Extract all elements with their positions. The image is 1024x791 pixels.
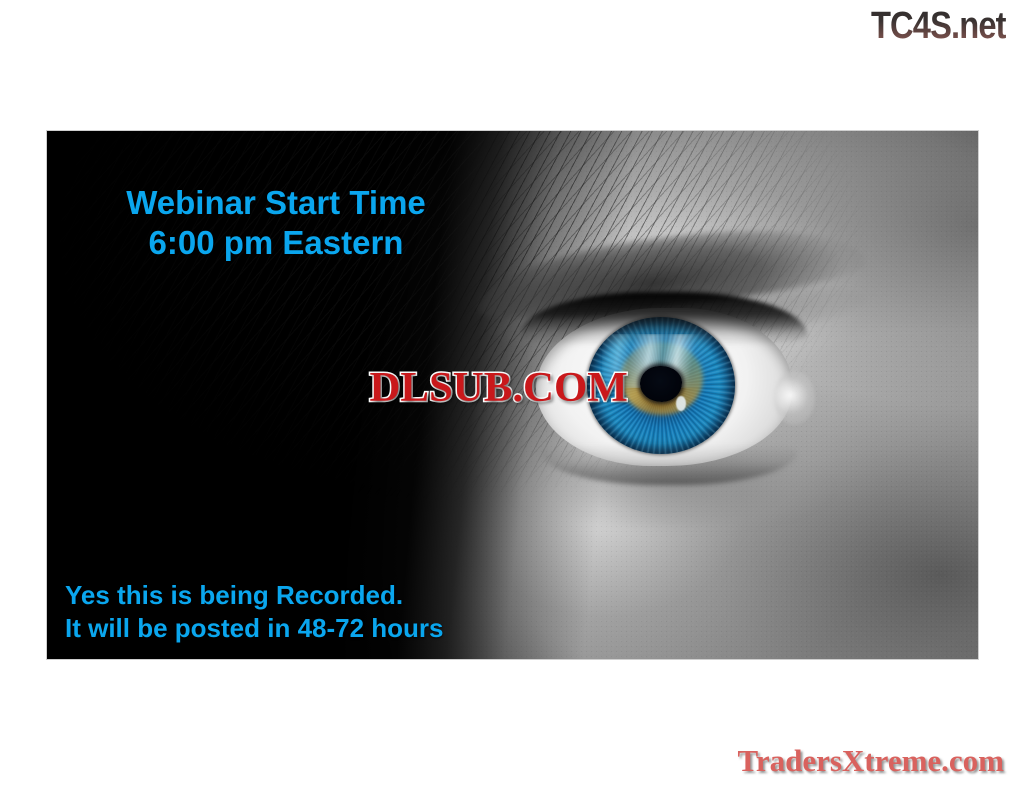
eye-photo: Webinar Start Time 6:00 pm Eastern Yes t… xyxy=(47,131,978,659)
slide-canvas: { "brand": { "top_logo": "TC4S.net", "bo… xyxy=(0,0,1024,791)
webinar-start-time-line2: 6:00 pm Eastern xyxy=(81,223,471,263)
webinar-start-time-text: Webinar Start Time 6:00 pm Eastern xyxy=(81,183,471,264)
dlsub-watermark: DLSUB.COM xyxy=(369,364,627,412)
tc4s-logo: TC4S.net xyxy=(871,4,1006,48)
recording-notice-line2: It will be posted in 48-72 hours xyxy=(65,612,444,645)
recording-notice-text: Yes this is being Recorded. It will be p… xyxy=(65,579,444,645)
recording-notice-line1: Yes this is being Recorded. xyxy=(65,580,403,610)
webinar-start-time-line1: Webinar Start Time xyxy=(126,184,426,221)
tradersxtreme-logo: TradersXtreme.com xyxy=(737,743,1004,779)
